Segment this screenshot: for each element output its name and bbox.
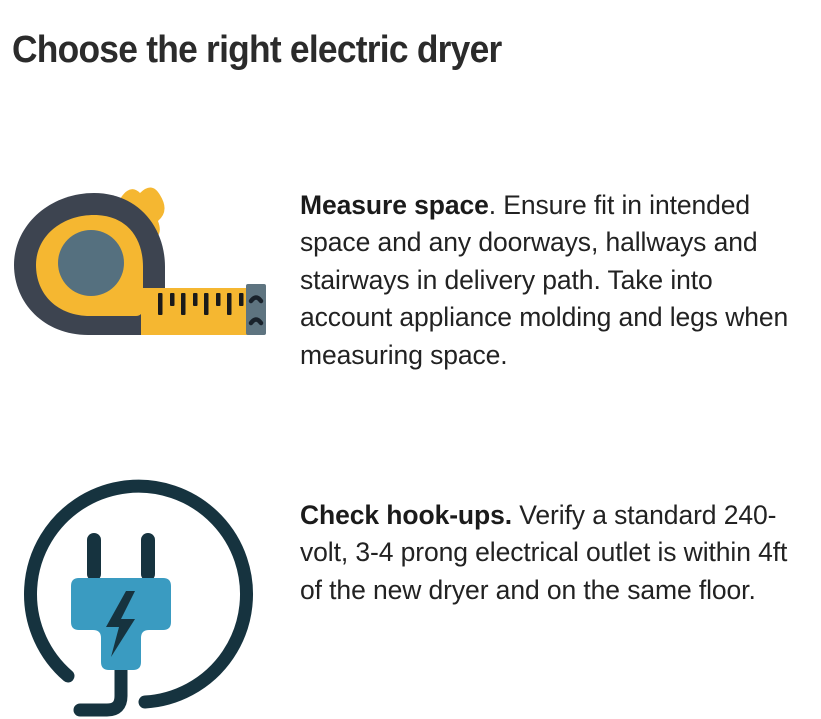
tip-lead: Check hook-ups. (300, 500, 512, 530)
tip-item-measure-space: Measure space. Ensure fit in intended sp… (0, 160, 821, 401)
tip-paragraph: Check hook-ups. Verify a standard 240-vo… (300, 497, 811, 610)
tip-lead-suffix: . (489, 190, 496, 220)
tip-text-cell: Check hook-ups. Verify a standard 240-vo… (300, 470, 821, 636)
tip-item-check-hook-ups: Check hook-ups. Verify a standard 240-vo… (0, 470, 821, 636)
tip-paragraph: Measure space. Ensure fit in intended sp… (300, 187, 811, 375)
tip-lead: Measure space (300, 190, 489, 220)
tip-icon-cell (0, 470, 300, 471)
power-plug-icon (8, 478, 270, 718)
page-title: Choose the right electric dryer (12, 27, 502, 73)
info-card: Choose the right electric dryer (0, 0, 821, 719)
tape-measure-icon (8, 185, 270, 355)
tip-text-cell: Measure space. Ensure fit in intended sp… (300, 160, 821, 401)
tip-icon-cell (0, 160, 300, 161)
